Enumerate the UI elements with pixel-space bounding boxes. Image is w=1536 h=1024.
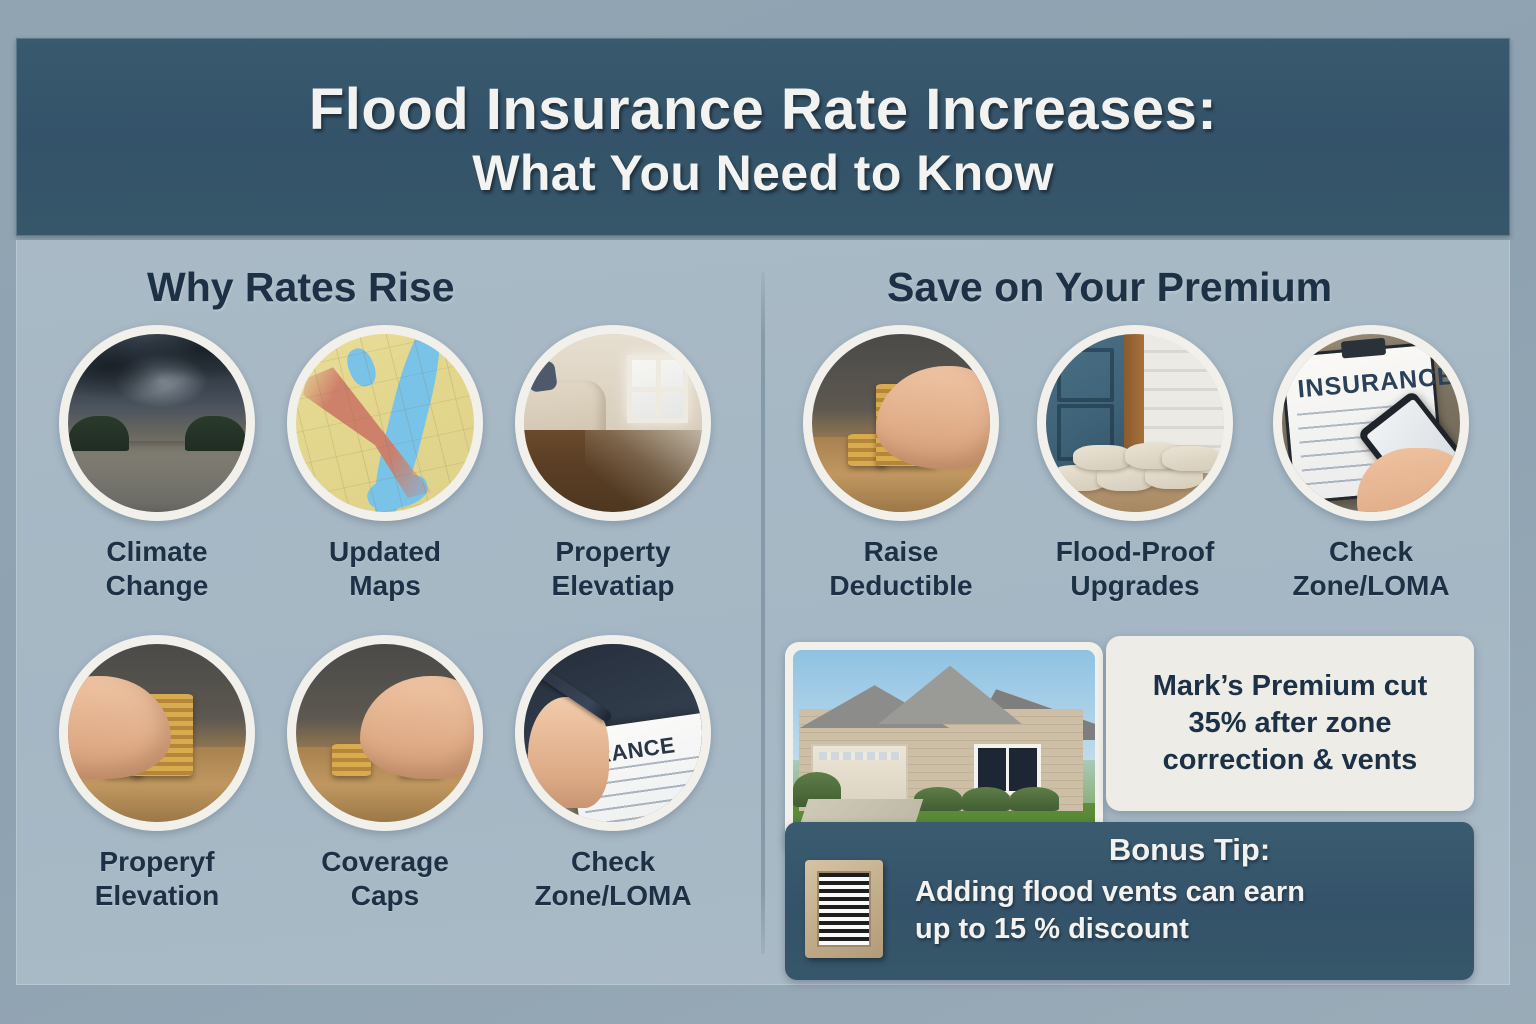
circle-frame: INSURANCE <box>1273 325 1469 521</box>
title-banner: Flood Insurance Rate Increases: What You… <box>16 38 1510 236</box>
left-item-property-elevation[interactable]: Properyf Elevation <box>39 635 275 912</box>
label-line1: Raise <box>783 535 1019 569</box>
left-item-property-elevation-top[interactable]: Property Elevatiap <box>495 325 731 602</box>
callout-line1: Mark’s Premium cut <box>1153 668 1428 705</box>
label-line1: Check <box>495 845 731 879</box>
flooded-room-icon <box>524 334 702 512</box>
right-item-raise-deductible[interactable]: Raise Deductible <box>783 325 1019 602</box>
circle-frame <box>287 635 483 831</box>
storm-flood-icon <box>68 334 246 512</box>
bonus-tip-band: Bonus Tip: Adding flood vents can earn u… <box>785 822 1474 980</box>
column-divider <box>761 272 765 954</box>
flood-zone-map-icon <box>296 334 474 512</box>
label-line2: Maps <box>267 569 503 603</box>
circle-frame <box>287 325 483 521</box>
left-item-label: Property Elevatiap <box>495 535 731 602</box>
label-line2: Zone/LOMA <box>1253 569 1489 603</box>
left-item-updated-maps[interactable]: Updated Maps <box>267 325 503 602</box>
right-section-heading: Save on Your Premium <box>887 264 1332 311</box>
page-title-line1: Flood Insurance Rate Increases: <box>309 79 1217 142</box>
coin-stack-icon <box>812 334 990 512</box>
label-line2: Zone/LOMA <box>495 879 731 913</box>
left-item-label: Coverage Caps <box>267 845 503 912</box>
infographic-canvas: Flood Insurance Rate Increases: What You… <box>0 0 1536 1024</box>
left-item-label: Properyf Elevation <box>39 845 275 912</box>
callout-line2: 35% after zone <box>1153 705 1428 742</box>
suburban-house-photo <box>793 650 1095 846</box>
label-line2: Elevatiap <box>495 569 731 603</box>
signing-insurance-icon: URANCE <box>524 644 702 822</box>
circle-frame <box>515 325 711 521</box>
label-line1: Updated <box>267 535 503 569</box>
bonus-tip-title: Bonus Tip: <box>785 832 1474 868</box>
coin-stack-hand-icon <box>296 644 474 822</box>
sandbags-door-icon <box>1046 334 1224 512</box>
left-item-coverage-caps[interactable]: Coverage Caps <box>267 635 503 912</box>
page-title-line2: What You Need to Know <box>472 145 1054 201</box>
label-line1: Property <box>495 535 731 569</box>
coin-stack-icon <box>68 644 246 822</box>
label-line1: Coverage <box>267 845 503 879</box>
right-item-flood-proof-upgrades[interactable]: Flood-Proof Upgrades <box>1017 325 1253 602</box>
circle-frame <box>59 325 255 521</box>
left-item-climate-change[interactable]: Climate Change <box>39 325 275 602</box>
left-item-label: Check Zone/LOMA <box>495 845 731 912</box>
left-item-label: Updated Maps <box>267 535 503 602</box>
label-line1: Properyf <box>39 845 275 879</box>
bonus-line1: Adding flood vents can earn <box>915 874 1458 911</box>
circle-frame <box>1037 325 1233 521</box>
right-item-label: Flood-Proof Upgrades <box>1017 535 1253 602</box>
case-study-text: Mark’s Premium cut 35% after zone correc… <box>1153 668 1428 779</box>
right-item-check-zone-loma[interactable]: INSURANCE Check Zone/LOMA <box>1253 325 1489 602</box>
case-study-callout: Mark’s Premium cut 35% after zone correc… <box>1106 636 1474 811</box>
left-section-heading: Why Rates Rise <box>147 264 455 311</box>
label-line2: Deductible <box>783 569 1019 603</box>
circle-frame <box>803 325 999 521</box>
clipboard-title-text: INSURANCE <box>1296 362 1456 405</box>
label-line2: Upgrades <box>1017 569 1253 603</box>
label-line2: Elevation <box>39 879 275 913</box>
label-line2: Change <box>39 569 275 603</box>
label-line1: Flood-Proof <box>1017 535 1253 569</box>
circle-frame <box>59 635 255 831</box>
label-line1: Climate <box>39 535 275 569</box>
flood-vent-icon <box>805 860 883 958</box>
right-item-label: Check Zone/LOMA <box>1253 535 1489 602</box>
label-line1: Check <box>1253 535 1489 569</box>
insurance-clipboard-icon: INSURANCE <box>1282 334 1460 512</box>
bonus-line2: up to 15 % discount <box>915 911 1458 948</box>
label-line2: Caps <box>267 879 503 913</box>
left-item-check-zone-loma[interactable]: URANCE Check Zone/LOMA <box>495 635 731 912</box>
right-item-label: Raise Deductible <box>783 535 1019 602</box>
left-item-label: Climate Change <box>39 535 275 602</box>
bonus-tip-body: Adding flood vents can earn up to 15 % d… <box>915 874 1458 947</box>
circle-frame: URANCE <box>515 635 711 831</box>
callout-line3: correction & vents <box>1153 742 1428 779</box>
